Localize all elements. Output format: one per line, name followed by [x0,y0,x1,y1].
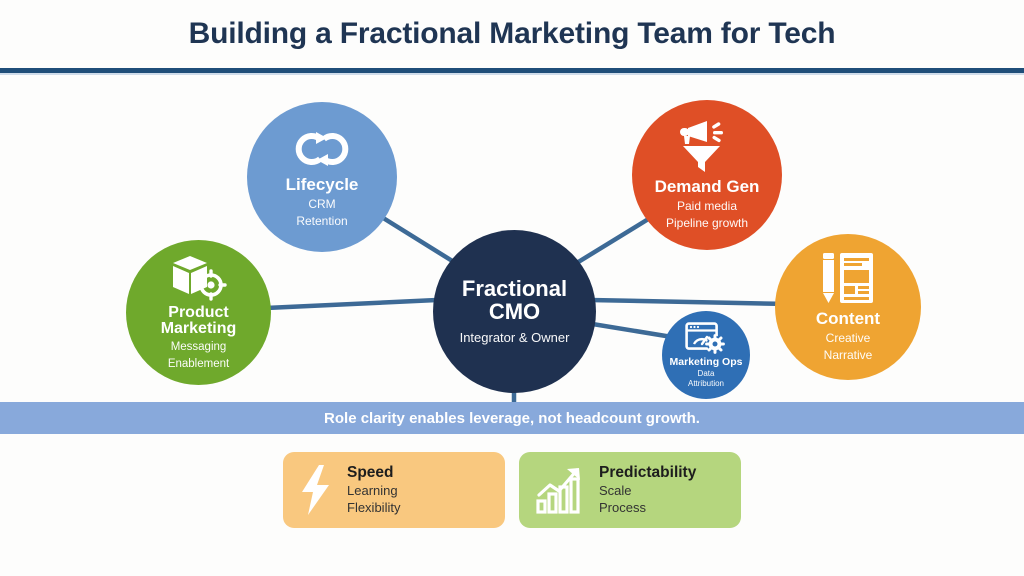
node-demand-gen[interactable]: Demand Gen Paid media Pipeline growth [632,100,782,250]
box-target-icon [169,254,229,302]
benefit-sub-line2: Process [599,499,696,516]
takeaway-banner: Role clarity enables leverage, not headc… [0,402,1024,434]
benefit-card-text: Speed Learning Flexibility [347,464,400,517]
benefit-card-speed[interactable]: Speed Learning Flexibility [283,452,505,528]
node-sub-line2: Enablement [168,358,229,372]
benefit-sub-line1: Learning [347,482,400,499]
node-sub-line1: Messaging [171,341,227,355]
benefit-sub-line1: Scale [599,482,696,499]
node-title: Content [816,310,880,328]
node-sub-line2: Narrative [824,348,873,362]
slide-canvas: Building a Fractional Marketing Team for… [0,0,1024,576]
node-sub-line1: CRM [308,197,335,211]
benefit-card-text: Predictability Scale Process [599,464,696,517]
node-sub-line1: Paid media [677,199,737,213]
node-subtitle: Integrator & Owner [460,330,570,345]
dashboard-gear-icon [685,322,727,356]
node-sub-line2: Pipeline growth [666,216,748,230]
benefit-sub-line2: Flexibility [347,499,400,516]
lightning-bolt-icon [299,464,333,516]
node-sub-line1: Data [698,369,715,378]
banner-text: Role clarity enables leverage, not headc… [324,410,700,427]
refresh-cycle-icon [291,126,353,172]
benefit-title: Predictability [599,464,696,483]
connector-product-marketing [266,300,437,308]
node-title-line1: Product [168,305,228,322]
node-sub-line2: Retention [296,214,347,228]
node-sub-line2: Attribution [688,379,724,388]
pencil-document-icon [819,251,877,305]
node-title-line2: CMO [489,300,540,323]
node-marketing-ops[interactable]: Marketing Ops Data Attribution [662,311,750,399]
megaphone-funnel-icon [676,120,738,174]
node-fractional-cmo[interactable]: Fractional CMO Integrator & Owner [433,230,596,393]
benefit-card-predictability[interactable]: Predictability Scale Process [519,452,741,528]
benefit-title: Speed [347,464,400,483]
node-sub-line1: Creative [826,331,871,345]
node-product-marketing[interactable]: Product Marketing Messaging Enablement [126,240,271,385]
node-lifecycle[interactable]: Lifecycle CRM Retention [247,102,397,252]
node-title: Demand Gen [655,178,760,196]
connector-content [590,300,790,304]
node-title: Lifecycle [286,176,359,194]
node-content[interactable]: Content Creative Narrative [775,234,921,380]
node-title-line2: Marketing [161,321,237,338]
node-title: Marketing Ops [670,357,743,368]
growth-bar-chart-icon [535,465,585,515]
node-title-line1: Fractional [462,277,567,300]
